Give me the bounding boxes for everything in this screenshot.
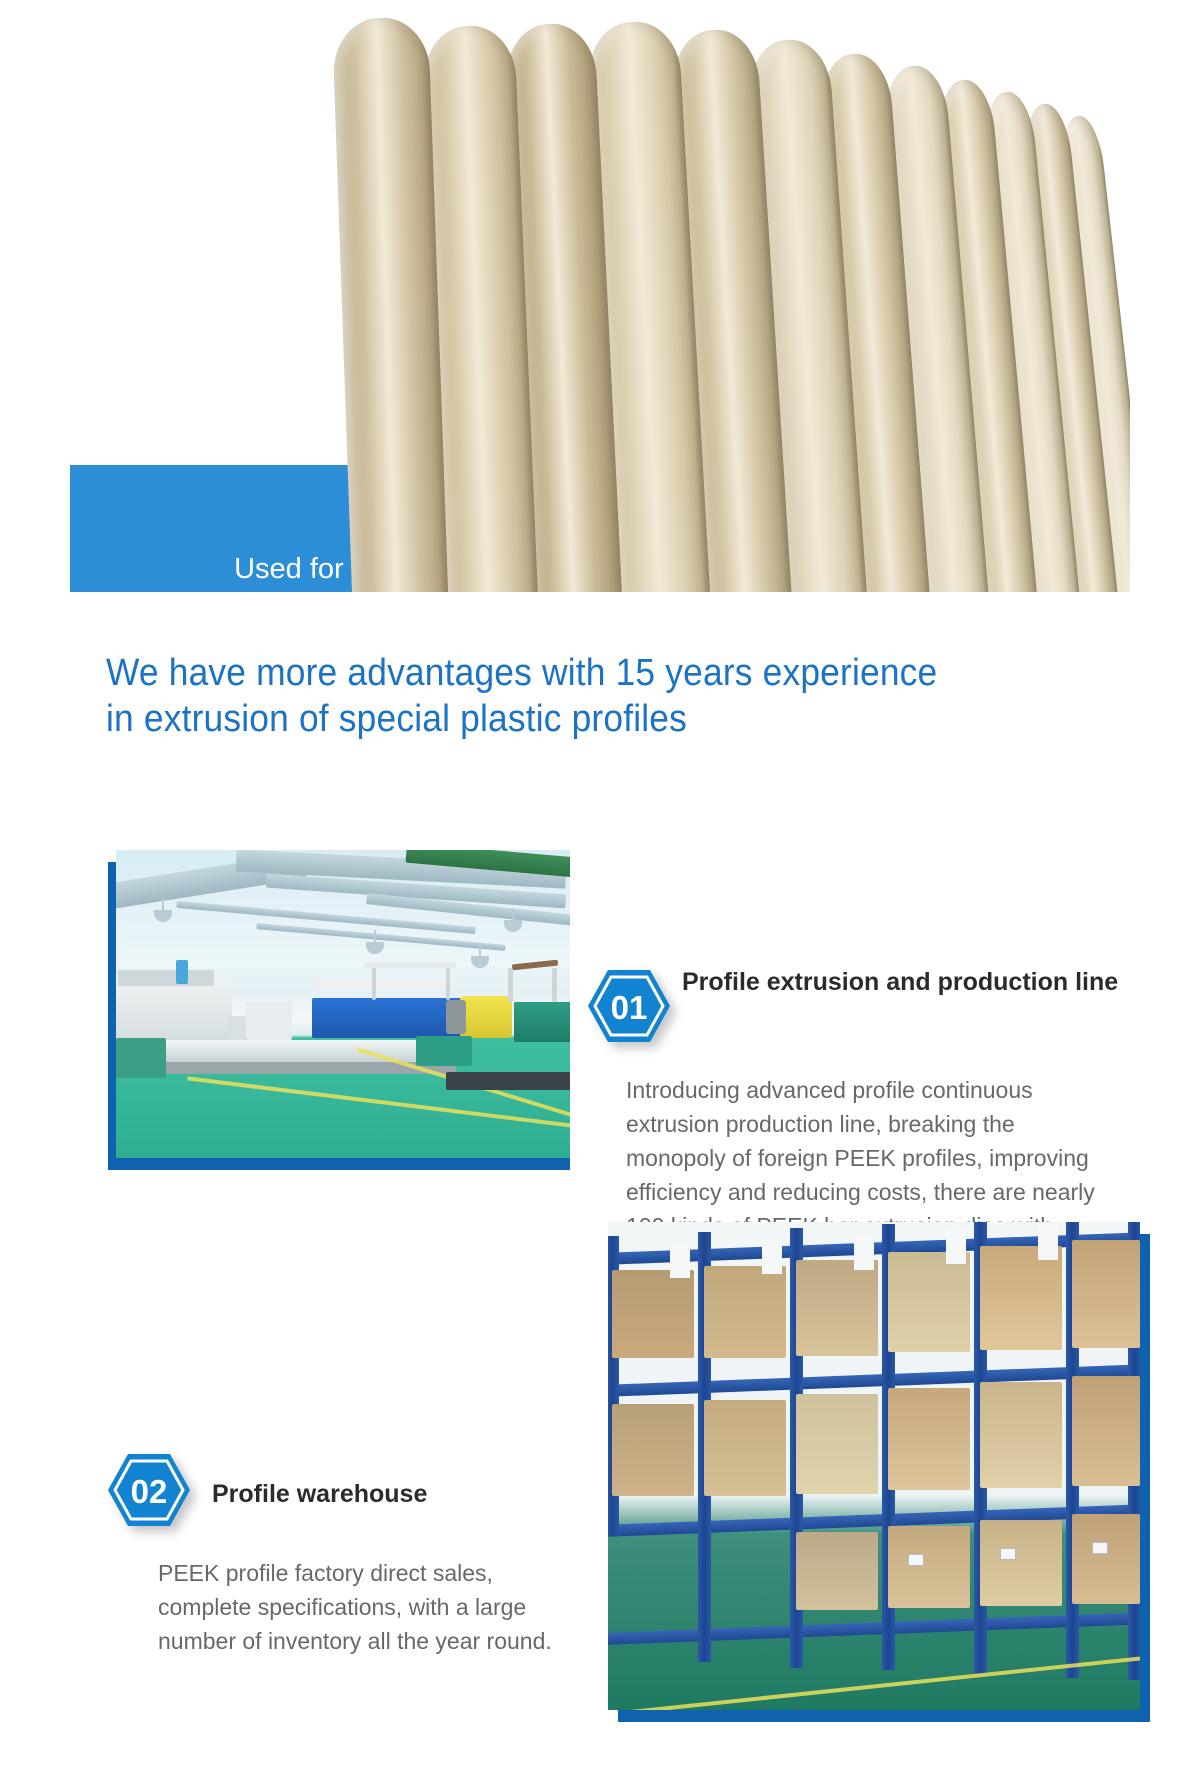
headline-line-1: We have more advantages with 15 years ex… bbox=[106, 650, 1036, 696]
extrusion-production-line-photo bbox=[108, 850, 570, 1170]
section-01-title: Profile extrusion and production line bbox=[682, 966, 1130, 999]
headline-line-2: in extrusion of special plastic profiles bbox=[106, 696, 1036, 742]
hero-section: PEEK rods Used for processing PEEK parts… bbox=[70, 0, 1130, 592]
section-badge-02: 02 bbox=[106, 1452, 192, 1528]
section-02-body: PEEK profile factory direct sales, compl… bbox=[158, 1556, 590, 1658]
section-headline: We have more advantages with 15 years ex… bbox=[106, 650, 1036, 742]
section-badge-02-number: 02 bbox=[131, 1473, 168, 1510]
section-badge-01: 01 bbox=[586, 968, 672, 1044]
product-detail-page: PEEK rods Used for processing PEEK parts… bbox=[70, 0, 1130, 1787]
section-02-title: Profile warehouse bbox=[212, 1478, 582, 1511]
profile-warehouse-photo bbox=[600, 1222, 1150, 1722]
section-badge-01-number: 01 bbox=[611, 989, 648, 1026]
image-content bbox=[116, 850, 570, 1158]
image-content bbox=[608, 1222, 1140, 1710]
